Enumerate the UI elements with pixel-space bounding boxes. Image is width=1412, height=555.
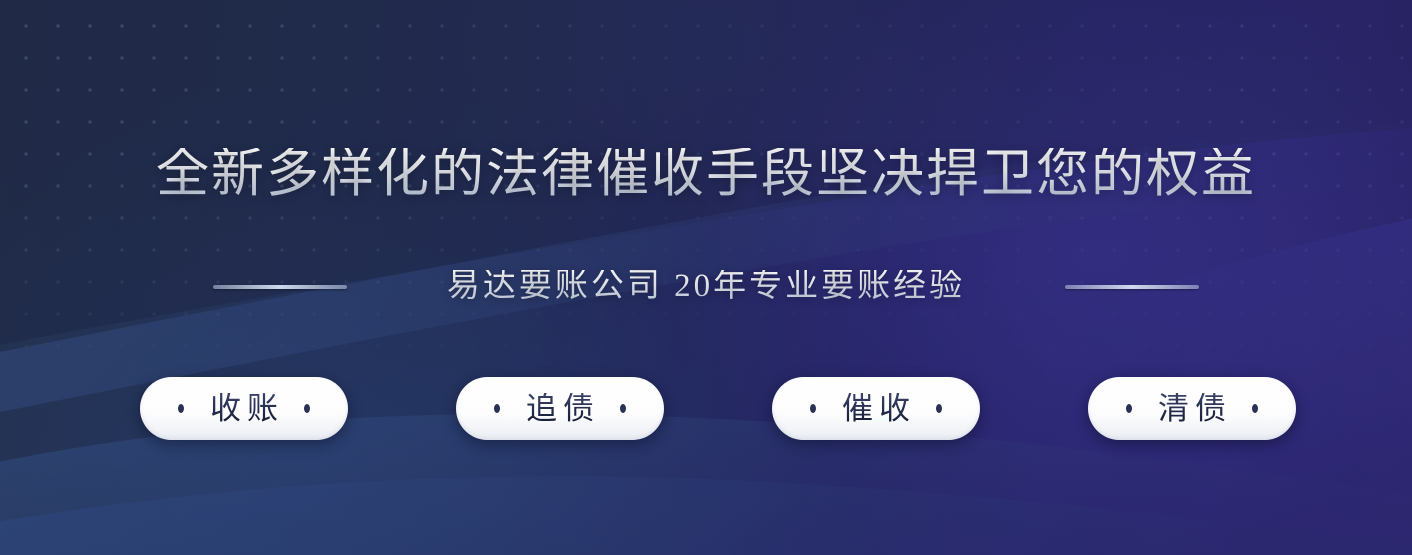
bullet-dot-icon xyxy=(178,404,184,413)
service-pill-label: 清债 xyxy=(1152,393,1232,424)
bullet-dot-icon xyxy=(1126,404,1132,413)
bullet-dot-icon xyxy=(936,404,942,413)
service-pill-zhuizhai[interactable]: 追债 xyxy=(456,377,664,440)
bullet-dot-icon xyxy=(304,404,310,413)
service-pill-shouzhang[interactable]: 收账 xyxy=(140,377,348,440)
service-pill-label: 催收 xyxy=(836,393,916,424)
service-pill-label: 收账 xyxy=(204,393,284,424)
left-rule-divider xyxy=(213,285,347,289)
bullet-dot-icon xyxy=(1252,404,1258,413)
headline: 全新多样化的法律催收手段坚决捍卫您的权益 xyxy=(0,148,1412,201)
service-pill-row: 收账 追债 催收 清债 xyxy=(140,377,1296,440)
service-pill-cuishou[interactable]: 催收 xyxy=(772,377,980,440)
banner-content: 全新多样化的法律催收手段坚决捍卫您的权益 易达要账公司 20年专业要账经验 收账… xyxy=(0,0,1412,555)
bullet-dot-icon xyxy=(620,404,626,413)
service-pill-label: 追债 xyxy=(520,393,600,424)
bullet-dot-icon xyxy=(494,404,500,413)
service-pill-qingzhai[interactable]: 清债 xyxy=(1088,377,1296,440)
bullet-dot-icon xyxy=(810,404,816,413)
promo-banner: 全新多样化的法律催收手段坚决捍卫您的权益 易达要账公司 20年专业要账经验 收账… xyxy=(0,0,1412,555)
subtitle-row: 易达要账公司 20年专业要账经验 xyxy=(0,270,1412,303)
right-rule-divider xyxy=(1065,285,1199,289)
subtitle: 易达要账公司 20年专业要账经验 xyxy=(447,270,965,303)
